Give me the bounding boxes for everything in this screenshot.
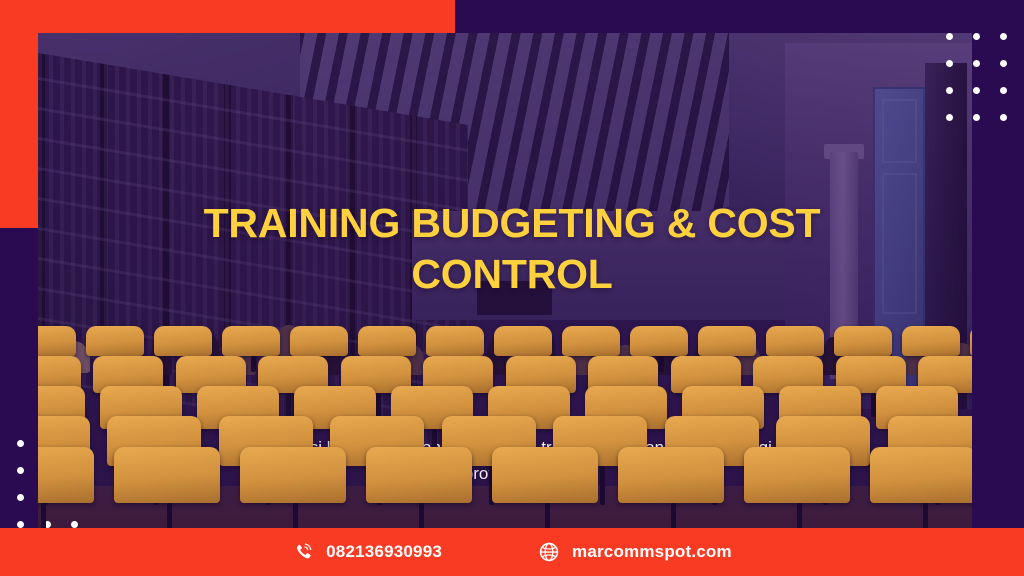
phone-number: 082136930993 — [326, 542, 442, 562]
decorative-dot — [1000, 60, 1007, 67]
page-title: TRAINING BUDGETING & COST CONTROL — [0, 198, 1024, 301]
decorative-dot — [973, 33, 980, 40]
chair-leg — [419, 503, 424, 528]
decorative-dot — [946, 60, 953, 67]
auditorium-chair — [562, 326, 620, 356]
chair-leg — [797, 503, 802, 528]
chair-leg — [600, 466, 605, 505]
auditorium-chair — [38, 447, 94, 503]
auditorium-chair — [154, 326, 212, 356]
auditorium-chair — [240, 447, 346, 503]
auditorium-chair — [290, 326, 348, 356]
auditorium-chair — [222, 326, 280, 356]
decorative-dot — [17, 494, 24, 501]
chair-leg — [545, 503, 550, 528]
auditorium-chair — [744, 447, 850, 503]
decorative-dot — [1000, 87, 1007, 94]
auditorium-chair — [494, 326, 552, 356]
auditorium-chair — [698, 326, 756, 356]
contact-website[interactable]: marcommspot.com — [538, 541, 732, 563]
auditorium-chair — [766, 326, 824, 356]
auditorium-chair — [618, 447, 724, 503]
auditorium-chair — [970, 326, 972, 356]
decorative-dot — [973, 114, 980, 121]
chair-leg — [376, 393, 381, 417]
auditorium-chair — [114, 447, 220, 503]
chair-leg — [167, 503, 172, 528]
decorative-dot — [946, 114, 953, 121]
chair-leg — [923, 503, 928, 528]
decorative-dot — [1000, 114, 1007, 121]
auditorium-chair — [366, 447, 472, 503]
contact-footer: 082136930993 marcommspot.com — [0, 528, 1024, 576]
decorative-dot — [946, 87, 953, 94]
auditorium-chair — [492, 447, 598, 503]
background-red-left-bar — [0, 0, 38, 228]
decorative-dot — [71, 521, 78, 528]
phone-ringing-icon — [292, 541, 314, 563]
globe-icon — [538, 541, 560, 563]
decorative-dot — [946, 33, 953, 40]
auditorium-chair — [38, 326, 76, 356]
auditorium-chair — [86, 326, 144, 356]
decorative-dot — [973, 87, 980, 94]
auditorium-chair — [902, 326, 960, 356]
auditorium-chair — [870, 447, 972, 503]
decorative-dot — [17, 521, 24, 528]
chair-leg — [251, 356, 256, 372]
auditorium-chair — [358, 326, 416, 356]
chair-leg — [293, 503, 298, 528]
decorative-dot — [1000, 33, 1007, 40]
chair-leg — [671, 503, 676, 528]
promo-banner: TRAINING BUDGETING & COST CONTROL Inform… — [0, 0, 1024, 576]
auditorium-chair — [630, 326, 688, 356]
auditorium-chair — [426, 326, 484, 356]
background-red-top-bar — [0, 0, 455, 33]
decorative-dot — [973, 60, 980, 67]
auditorium-chair — [834, 326, 892, 356]
contact-phone[interactable]: 082136930993 — [292, 541, 442, 563]
chair-leg — [659, 356, 664, 372]
website-url: marcommspot.com — [572, 542, 732, 562]
dot-grid-top-right — [946, 33, 1007, 121]
chair-leg — [41, 503, 46, 528]
